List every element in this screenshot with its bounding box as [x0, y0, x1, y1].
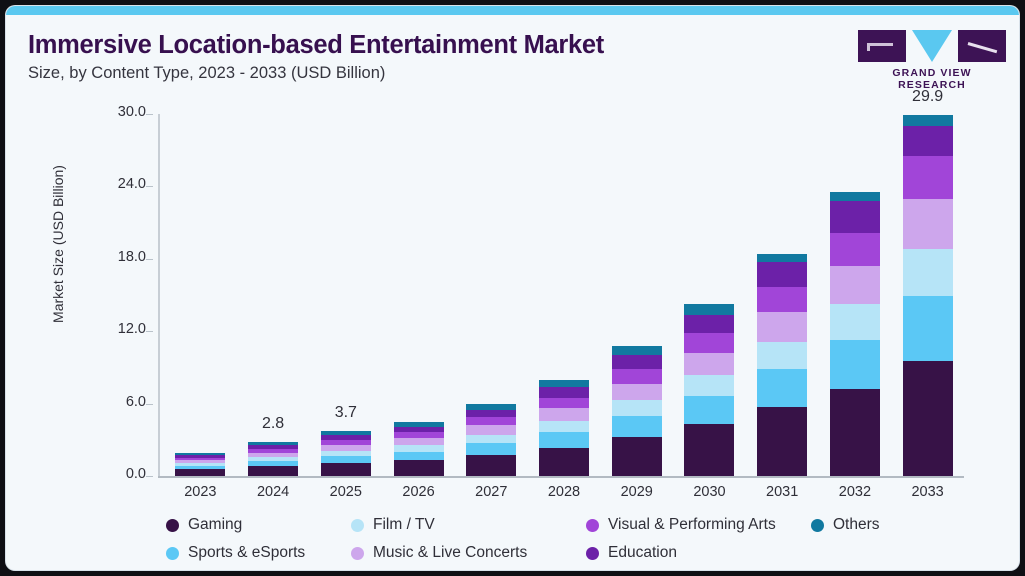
bar-segment[interactable]	[539, 432, 589, 448]
bar-segment[interactable]	[903, 361, 953, 476]
legend-item-label: Others	[833, 516, 880, 534]
stacked-bar[interactable]	[684, 304, 734, 476]
x-axis-tick-label: 2027	[451, 484, 531, 500]
bar-segment[interactable]	[466, 417, 516, 425]
stacked-bar[interactable]	[903, 115, 953, 476]
bar-segment[interactable]	[830, 233, 880, 266]
legend-item-label: Gaming	[188, 516, 242, 534]
bar-segment[interactable]	[539, 408, 589, 420]
bar-segment[interactable]	[539, 380, 589, 388]
x-axis-tick-label: 2023	[160, 484, 240, 500]
legend-item[interactable]: Gaming	[166, 516, 242, 534]
legend-color-swatch-icon	[351, 519, 364, 532]
bar-segment[interactable]	[539, 421, 589, 432]
legend-item-label: Sports & eSports	[188, 544, 305, 562]
bar-segment[interactable]	[466, 443, 516, 455]
x-axis-tick-label: 2033	[888, 484, 968, 500]
x-axis-tick-label: 2025	[306, 484, 386, 500]
stacked-bar[interactable]	[757, 254, 807, 476]
x-axis-tick-label: 2029	[597, 484, 677, 500]
bar-segment[interactable]	[612, 384, 662, 401]
y-axis-tick-label: 6.0	[86, 394, 146, 410]
legend-item-label: Visual & Performing Arts	[608, 516, 776, 534]
bar-segment[interactable]	[757, 342, 807, 370]
legend-color-swatch-icon	[351, 547, 364, 560]
legend-item[interactable]: Sports & eSports	[166, 544, 305, 562]
bar-segment[interactable]	[539, 398, 589, 409]
bar-segment[interactable]	[757, 262, 807, 287]
bar-segment[interactable]	[757, 312, 807, 341]
stacked-bar[interactable]	[175, 453, 225, 476]
legend-color-swatch-icon	[586, 547, 599, 560]
bar-segment[interactable]	[684, 333, 734, 352]
bar-segment[interactable]	[903, 249, 953, 296]
bar-segment[interactable]	[684, 424, 734, 476]
x-axis-tick-label: 2030	[669, 484, 749, 500]
bar-segment[interactable]	[757, 287, 807, 313]
x-axis-tick-label: 2032	[815, 484, 895, 500]
bar-segment[interactable]	[684, 304, 734, 315]
x-axis-tick-label: 2031	[742, 484, 822, 500]
bar-segment[interactable]	[757, 407, 807, 476]
stacked-bar[interactable]	[248, 442, 298, 476]
chart-legend: GamingFilm / TVVisual & Performing ArtsO…	[166, 516, 1006, 568]
bar-segment[interactable]	[830, 266, 880, 304]
x-axis-tick-label: 2026	[379, 484, 459, 500]
legend-color-swatch-icon	[811, 519, 824, 532]
stacked-bar[interactable]	[830, 192, 880, 476]
legend-color-swatch-icon	[166, 547, 179, 560]
stacked-bar[interactable]	[394, 422, 444, 476]
x-axis-tick-label: 2024	[233, 484, 313, 500]
bar-segment[interactable]	[903, 115, 953, 126]
bar-segment[interactable]	[612, 369, 662, 384]
legend-color-swatch-icon	[166, 519, 179, 532]
stacked-bar[interactable]	[539, 380, 589, 476]
bar-value-label: 29.9	[888, 88, 968, 106]
bar-segment[interactable]	[612, 400, 662, 416]
legend-item-label: Film / TV	[373, 516, 435, 534]
legend-item[interactable]: Education	[586, 544, 677, 562]
y-axis-tick-mark	[146, 259, 153, 260]
bar-segment[interactable]	[612, 346, 662, 356]
x-axis-line	[158, 476, 964, 478]
bar-segment[interactable]	[612, 416, 662, 437]
chart-card: Immersive Location-based Entertainment M…	[6, 6, 1019, 570]
bar-segment[interactable]	[612, 437, 662, 476]
legend-item[interactable]: Others	[811, 516, 880, 534]
legend-color-swatch-icon	[586, 519, 599, 532]
y-axis-tick-label: 18.0	[86, 249, 146, 265]
chart-plot-area: Market Size (USD Billion) 0.06.012.018.0…	[6, 6, 1019, 570]
y-axis-tick-label: 24.0	[86, 176, 146, 192]
legend-item-label: Education	[608, 544, 677, 562]
legend-item[interactable]: Film / TV	[351, 516, 435, 534]
bar-segment[interactable]	[394, 452, 444, 461]
bar-segment[interactable]	[394, 460, 444, 476]
stacked-bar[interactable]	[612, 346, 662, 476]
bar-segment[interactable]	[321, 456, 371, 463]
bar-segment[interactable]	[612, 355, 662, 369]
bar-segment[interactable]	[466, 435, 516, 444]
y-axis-line	[158, 114, 160, 476]
legend-item[interactable]: Visual & Performing Arts	[586, 516, 776, 534]
stacked-bar[interactable]	[466, 404, 516, 476]
bar-segment[interactable]	[466, 455, 516, 476]
bar-value-label: 2.8	[233, 415, 313, 433]
bar-segment[interactable]	[684, 375, 734, 396]
y-axis-tick-mark	[146, 331, 153, 332]
stacked-bar[interactable]	[321, 431, 371, 476]
bar-segment[interactable]	[903, 199, 953, 249]
bar-segment[interactable]	[684, 315, 734, 334]
bar-segment[interactable]	[466, 425, 516, 434]
y-axis-tick-mark	[146, 476, 153, 477]
y-axis-tick-label: 12.0	[86, 321, 146, 337]
bar-segment[interactable]	[903, 126, 953, 156]
bar-value-label: 3.7	[306, 404, 386, 422]
legend-item[interactable]: Music & Live Concerts	[351, 544, 527, 562]
legend-item-label: Music & Live Concerts	[373, 544, 527, 562]
bar-segment[interactable]	[830, 389, 880, 476]
bar-segment[interactable]	[830, 192, 880, 201]
bar-segment[interactable]	[903, 156, 953, 199]
bar-segment[interactable]	[539, 448, 589, 476]
y-axis-label: Market Size (USD Billion)	[50, 144, 66, 344]
bar-segment[interactable]	[684, 396, 734, 424]
bar-segment[interactable]	[903, 296, 953, 361]
y-axis-tick-mark	[146, 404, 153, 405]
bar-segment[interactable]	[830, 201, 880, 233]
bar-segment[interactable]	[539, 387, 589, 397]
bar-segment[interactable]	[830, 304, 880, 340]
bar-segment[interactable]	[394, 438, 444, 445]
bar-segment[interactable]	[757, 369, 807, 407]
bar-segment[interactable]	[466, 410, 516, 418]
x-axis-tick-label: 2028	[524, 484, 604, 500]
bar-segment[interactable]	[757, 254, 807, 262]
bar-segment[interactable]	[684, 353, 734, 375]
y-axis-tick-label: 30.0	[86, 104, 146, 120]
bar-segment[interactable]	[248, 466, 298, 476]
y-axis-tick-mark	[146, 114, 153, 115]
y-axis-tick-mark	[146, 186, 153, 187]
bar-segment[interactable]	[321, 463, 371, 476]
bar-segment[interactable]	[175, 469, 225, 476]
bar-segment[interactable]	[830, 340, 880, 389]
y-axis-tick-label: 0.0	[86, 466, 146, 482]
